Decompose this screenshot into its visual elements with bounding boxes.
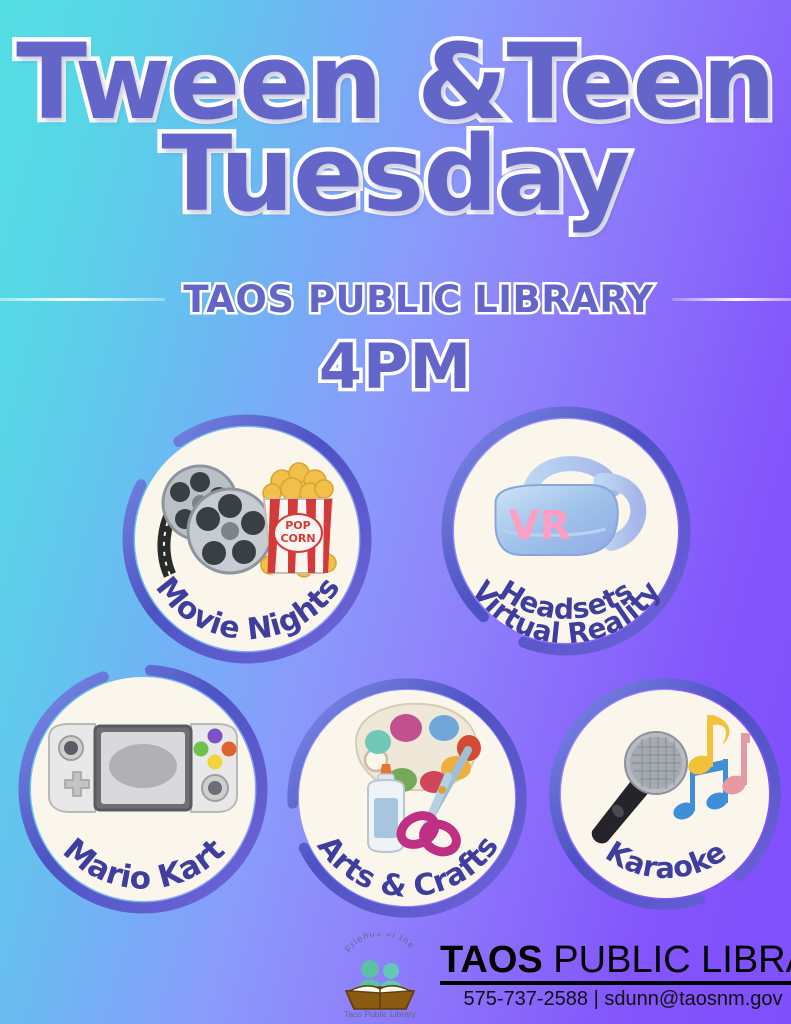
activity-bubble-arts-crafts[interactable]: Arts & Crafts	[283, 674, 531, 922]
logo-top-text: Friends of the	[343, 933, 417, 954]
event-time: 4PM	[0, 330, 791, 403]
vr-headset-icon: VR	[474, 445, 659, 575]
divider-line-right	[672, 298, 791, 301]
handheld-console-icon	[43, 718, 243, 818]
microphone-music-notes-icon	[580, 705, 750, 845]
poster-footer: Friends of the Taos Public Library TAOS …	[0, 928, 791, 1024]
footer-contact: 575-737-2588 | sdunn@taosnm.gov	[440, 988, 791, 1011]
poster-canvas: Tween &Teen Tuesday TAOS PUBLIC LIBRARY …	[0, 0, 791, 1024]
activity-bubble-vr[interactable]: VR Virtual Reality Headsets	[437, 402, 695, 660]
activity-bubble-mario-kart[interactable]: Mario Kart	[14, 660, 272, 918]
subtitle-row: TAOS PUBLIC LIBRARY	[0, 278, 791, 321]
footer-text-block: TAOS PUBLIC LIBRARY 575-737-2588 | sdunn…	[440, 941, 791, 1011]
activity-bubble-karaoke[interactable]: Karaoke	[545, 674, 785, 914]
activity-bubble-movie[interactable]: POP CORN Movie Nights	[118, 410, 376, 668]
vr-badge-text: VR	[509, 503, 571, 549]
footer-org-bold: TAOS	[440, 939, 543, 981]
footer-org-name: TAOS PUBLIC LIBRARY	[440, 941, 791, 979]
logo-bottom-text: Taos Public Library	[344, 1009, 417, 1019]
subtitle: TAOS PUBLIC LIBRARY	[183, 278, 653, 321]
footer-org-rest: PUBLIC LIBRARY	[543, 939, 791, 981]
divider-line-left	[0, 298, 165, 301]
title-line-1: Tween &Teen	[0, 0, 791, 132]
svg-text:Friends of the: Friends of the	[343, 933, 417, 954]
page-title: Tween &Teen Tuesday	[0, 0, 791, 224]
popcorn-label-1: POP	[285, 519, 310, 532]
film-reel-popcorn-icon: POP CORN	[152, 453, 342, 583]
palette-glue-scissors-icon	[322, 698, 492, 858]
friends-of-library-logo: Friends of the Taos Public Library	[334, 933, 426, 1019]
footer-underline	[440, 981, 791, 985]
poster-header: Tween &Teen Tuesday	[0, 0, 791, 224]
activity-bubble-grid: POP CORN Movie Nights	[0, 402, 791, 932]
popcorn-label-2: CORN	[280, 532, 315, 545]
